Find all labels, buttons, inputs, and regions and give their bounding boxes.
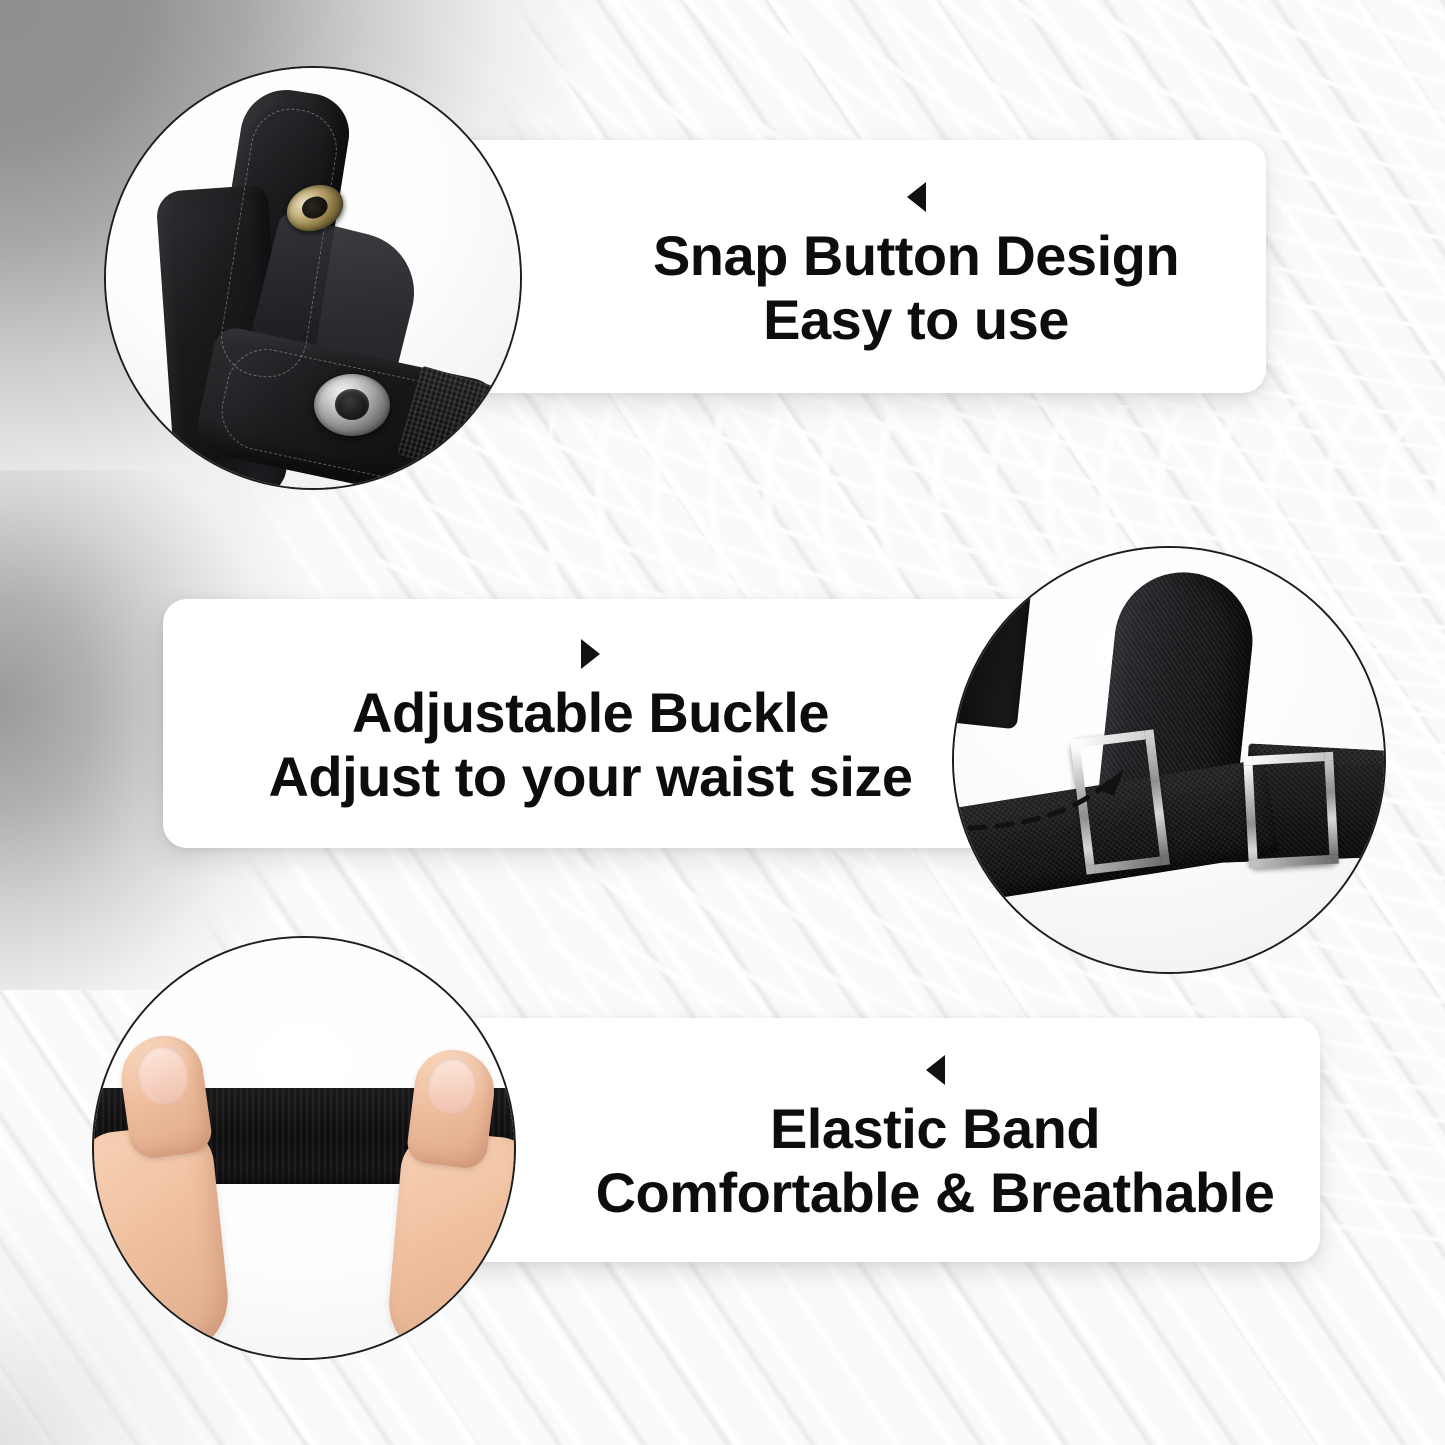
feature-subtitle-snap-button: Easy to use (763, 288, 1069, 352)
feature-title-snap-button: Snap Button Design (653, 224, 1179, 288)
triangle-pointer-right-icon (581, 639, 600, 669)
metal-slider-buckle-right (1243, 752, 1339, 869)
feature-title-elastic-band: Elastic Band (770, 1097, 1100, 1161)
elastic-band-photo (92, 936, 516, 1360)
snap-button-photo (104, 66, 522, 490)
adjustable-buckle-photo (952, 546, 1386, 974)
triangle-pointer-left-icon (907, 182, 926, 212)
infographic-canvas: Snap Button Design Easy to use Adjustabl… (0, 0, 1445, 1445)
left-hand-palm (92, 1122, 234, 1360)
adjust-direction-arrow-icon (964, 736, 1194, 856)
feature-title-adjustable-buckle: Adjustable Buckle (352, 681, 829, 745)
feature-subtitle-adjustable-buckle: Adjust to your waist size (268, 745, 912, 809)
snap-stud-silver-icon (314, 374, 390, 436)
triangle-pointer-left-icon (926, 1055, 945, 1085)
feature-subtitle-elastic-band: Comfortable & Breathable (596, 1161, 1275, 1225)
